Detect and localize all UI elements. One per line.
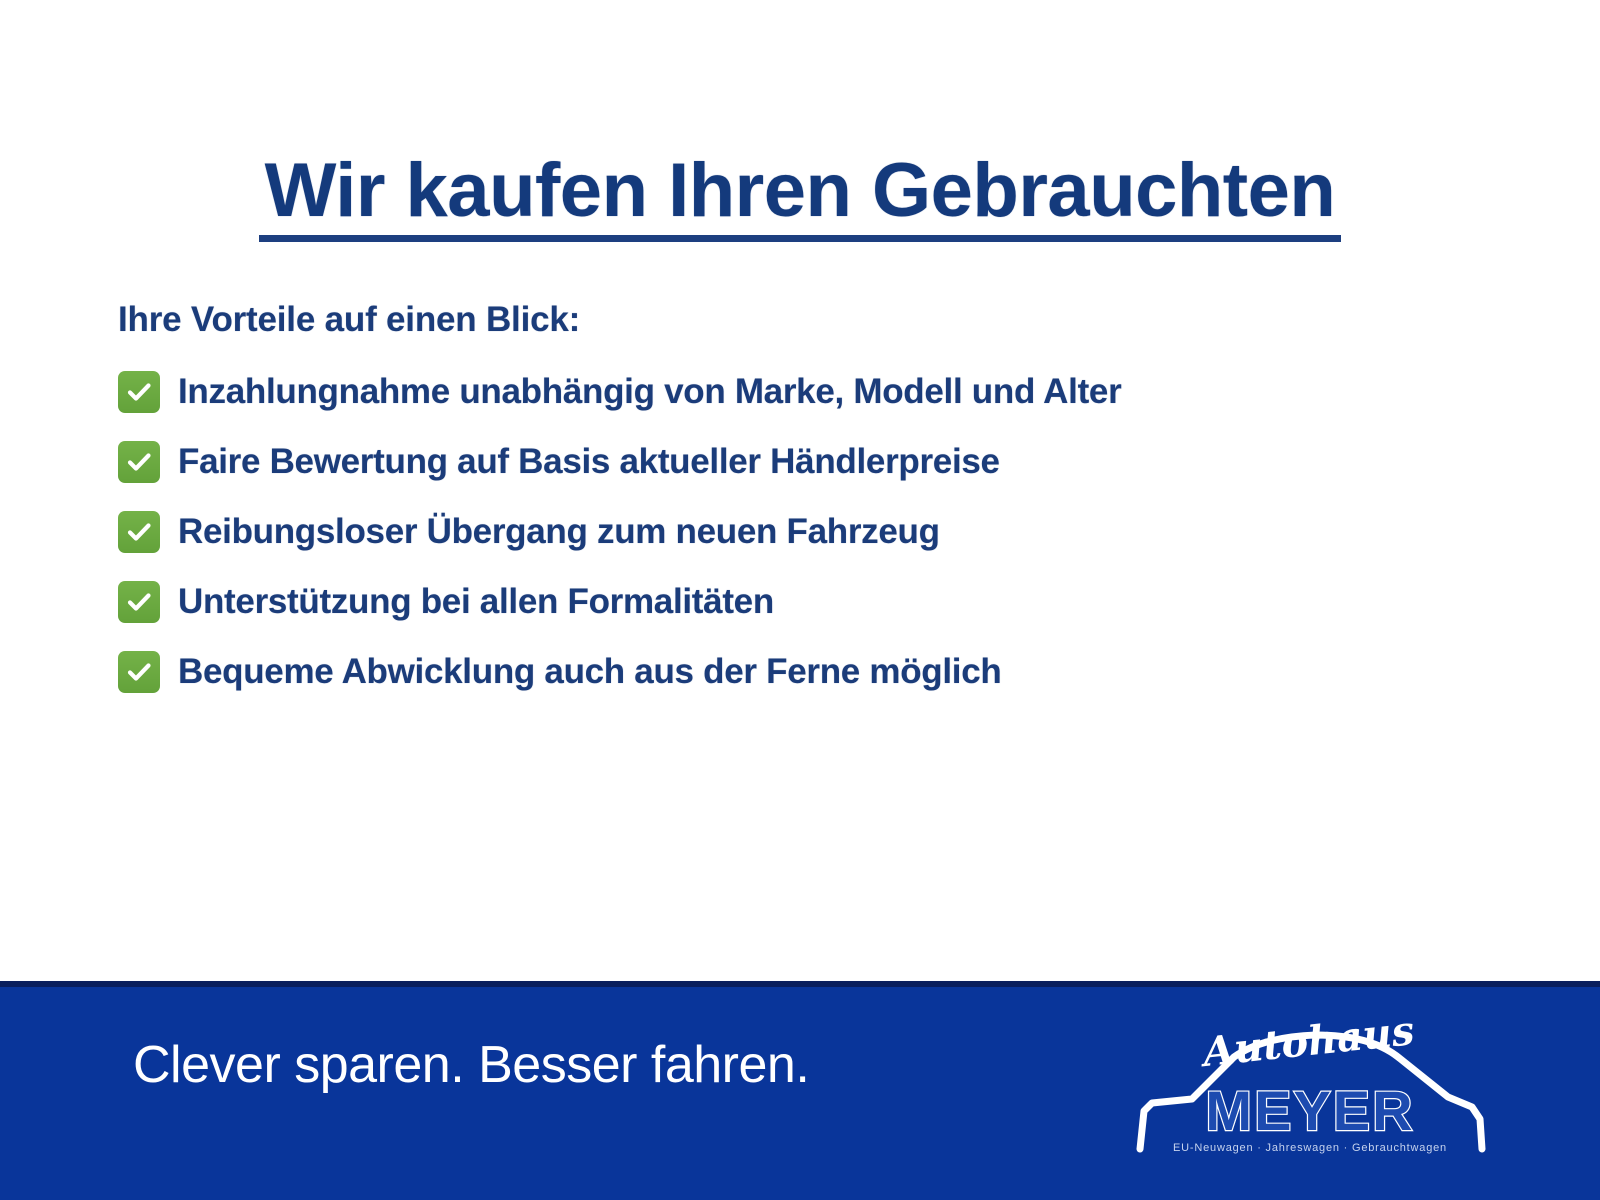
check-box-icon xyxy=(118,441,160,483)
list-item: Reibungsloser Übergang zum neuen Fahrzeu… xyxy=(118,508,1518,556)
list-item-label: Faire Bewertung auf Basis aktueller Händ… xyxy=(178,440,1000,484)
title-block: Wir kaufen Ihren Gebrauchten xyxy=(0,96,1600,293)
promo-poster: Wir kaufen Ihren Gebrauchten Ihre Vortei… xyxy=(0,0,1600,1200)
benefits-heading: Ihre Vorteile auf einen Blick: xyxy=(118,298,1518,342)
check-box-icon xyxy=(118,581,160,623)
logo-wordmark: MEYER xyxy=(1205,1079,1414,1142)
logo-script-text: Autohaus xyxy=(1197,1007,1417,1076)
list-item: Unterstützung bei allen Formalitäten xyxy=(118,578,1518,626)
list-item: Inzahlungnahme unabhängig von Marke, Mod… xyxy=(118,368,1518,416)
list-item-label: Reibungsloser Übergang zum neuen Fahrzeu… xyxy=(178,510,940,554)
dealer-logo: Autohaus MEYER EU-Neuwagen · Jahreswagen… xyxy=(1130,999,1490,1169)
footer-band: Clever sparen. Besser fahren. Autohaus M… xyxy=(0,981,1600,1200)
list-item: Faire Bewertung auf Basis aktueller Händ… xyxy=(118,438,1518,486)
list-item-label: Bequeme Abwicklung auch aus der Ferne mö… xyxy=(178,650,1001,694)
list-item-label: Inzahlungnahme unabhängig von Marke, Mod… xyxy=(178,370,1121,414)
benefits-list: Inzahlungnahme unabhängig von Marke, Mod… xyxy=(118,368,1518,696)
check-box-icon xyxy=(118,651,160,693)
footer-slogan: Clever sparen. Besser fahren. xyxy=(133,1033,809,1097)
benefits-section: Ihre Vorteile auf einen Blick: Inzahlung… xyxy=(118,298,1518,718)
list-item: Bequeme Abwicklung auch aus der Ferne mö… xyxy=(118,648,1518,696)
list-item-label: Unterstützung bei allen Formalitäten xyxy=(178,580,774,624)
check-box-icon xyxy=(118,511,160,553)
page-title: Wir kaufen Ihren Gebrauchten xyxy=(259,147,1342,242)
logo-subtitle: EU-Neuwagen · Jahreswagen · Gebrauchtwag… xyxy=(1173,1142,1447,1154)
check-box-icon xyxy=(118,371,160,413)
